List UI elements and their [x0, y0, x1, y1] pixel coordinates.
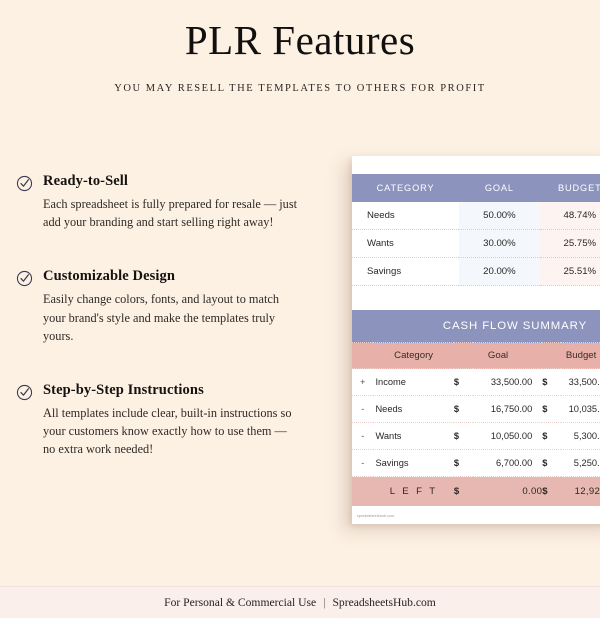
footer-usage-text: For Personal & Commercial Use: [164, 596, 316, 609]
cell-budget-currency: $: [542, 477, 561, 507]
cell-sign: -: [352, 396, 373, 423]
page-title: PLR Features: [0, 18, 600, 63]
table-row: Wants 30.00% 25.75%: [352, 230, 600, 258]
cell-category: Needs: [352, 202, 459, 230]
cell-category: Savings: [373, 450, 453, 477]
column-header-goal: Goal: [454, 343, 542, 369]
cell-goal: 30.00%: [459, 230, 539, 258]
cell-budget: 33,500.00: [561, 369, 600, 396]
cell-goal-currency: $: [454, 396, 473, 423]
cell-goal-currency: $: [454, 423, 473, 450]
cell-budget: 5,250.00: [561, 450, 600, 477]
column-header-category: Category: [373, 343, 453, 369]
cell-goal-currency: $: [454, 369, 473, 396]
table-row: Needs 50.00% 48.74%: [352, 202, 600, 230]
cell-budget: 5,300.00: [561, 423, 600, 450]
cell-budget: 10,035.00: [561, 396, 600, 423]
feature-item-step-by-step-instructions: Step-by-Step Instructions All templates …: [16, 382, 306, 459]
cell-goal-currency: $: [454, 450, 473, 477]
cell-goal: 10,050.00: [473, 423, 543, 450]
circle-check-icon: [16, 270, 33, 287]
cell-budget-currency: $: [542, 450, 561, 477]
cell-budget: 48.74%: [540, 202, 600, 230]
cell-goal: 33,500.00: [473, 369, 543, 396]
column-header-budget: Budget: [542, 343, 600, 369]
cell-goal: 16,750.00: [473, 396, 543, 423]
footer-separator: |: [323, 596, 325, 609]
feature-item-ready-to-sell: Ready-to-Sell Each spreadsheet is fully …: [16, 173, 306, 231]
cell-budget-currency: $: [542, 423, 561, 450]
circle-check-icon: [16, 384, 33, 401]
column-header-sign: [352, 343, 373, 369]
cell-budget-currency: $: [542, 369, 561, 396]
cell-sign: -: [352, 423, 373, 450]
cash-flow-title-row: CASH FLOW SUMMARY: [352, 310, 600, 343]
feature-title: Step-by-Step Instructions: [43, 382, 306, 399]
feature-list: Ready-to-Sell Each spreadsheet is fully …: [16, 173, 306, 459]
cash-flow-title: CASH FLOW SUMMARY: [352, 310, 600, 343]
footer-site-link[interactable]: SpreadsheetsHub.com: [332, 596, 435, 609]
cell-goal-total: 0.00: [473, 477, 543, 507]
cell-goal: 50.00%: [459, 202, 539, 230]
feature-title: Ready-to-Sell: [43, 173, 306, 190]
table-row: - Needs $ 16,750.00 $ 10,035.00: [352, 396, 600, 423]
feature-item-customizable-design: Customizable Design Easily change colors…: [16, 268, 306, 345]
cell-sign: +: [352, 369, 373, 396]
cash-flow-total-row: L E F T $ 0.00 $ 12,925.00: [352, 477, 600, 507]
cell-goal-currency: $: [454, 477, 473, 507]
cell-sign: [352, 477, 373, 507]
cell-budget: 25.51%: [540, 258, 600, 286]
allocation-table: CATEGORY GOAL BUDGET Needs 50.00% 48.74%…: [352, 174, 600, 286]
cell-category: Needs: [373, 396, 453, 423]
cell-budget: 25.75%: [540, 230, 600, 258]
cell-total-label: L E F T: [373, 477, 453, 507]
circle-check-icon: [16, 175, 33, 192]
column-header-category: CATEGORY: [352, 174, 459, 202]
table-row: Savings 20.00% 25.51%: [352, 258, 600, 286]
cash-flow-header-row: Category Goal Budget: [352, 343, 600, 369]
cell-category: Savings: [352, 258, 459, 286]
footer: For Personal & Commercial Use | Spreadsh…: [0, 586, 600, 618]
cell-goal: 6,700.00: [473, 450, 543, 477]
cell-sign: -: [352, 450, 373, 477]
cell-category: Wants: [352, 230, 459, 258]
cell-category: Income: [373, 369, 453, 396]
column-header-budget: BUDGET: [540, 174, 600, 202]
page-subtitle: YOU MAY RESELL THE TEMPLATES TO OTHERS F…: [0, 83, 600, 94]
feature-description: All templates include clear, built-in in…: [43, 404, 301, 459]
feature-title: Customizable Design: [43, 268, 306, 285]
spreadsheet-watermark: spreadsheetshub.com: [357, 514, 394, 518]
feature-description: Easily change colors, fonts, and layout …: [43, 290, 301, 345]
cell-budget-total: 12,925.00: [561, 477, 600, 507]
feature-description: Each spreadsheet is fully prepared for r…: [43, 195, 301, 231]
cell-goal: 20.00%: [459, 258, 539, 286]
table-row: + Income $ 33,500.00 $ 33,500.00: [352, 369, 600, 396]
spreadsheet-preview-card: CATEGORY GOAL BUDGET Needs 50.00% 48.74%…: [352, 156, 600, 524]
table-row: - Wants $ 10,050.00 $ 5,300.00: [352, 423, 600, 450]
table-row: - Savings $ 6,700.00 $ 5,250.00: [352, 450, 600, 477]
cell-category: Wants: [373, 423, 453, 450]
cell-budget-currency: $: [542, 396, 561, 423]
table-header-row: CATEGORY GOAL BUDGET: [352, 174, 600, 202]
cash-flow-summary-table: CASH FLOW SUMMARY Category Goal Budget +…: [352, 310, 600, 506]
column-header-goal: GOAL: [459, 174, 539, 202]
